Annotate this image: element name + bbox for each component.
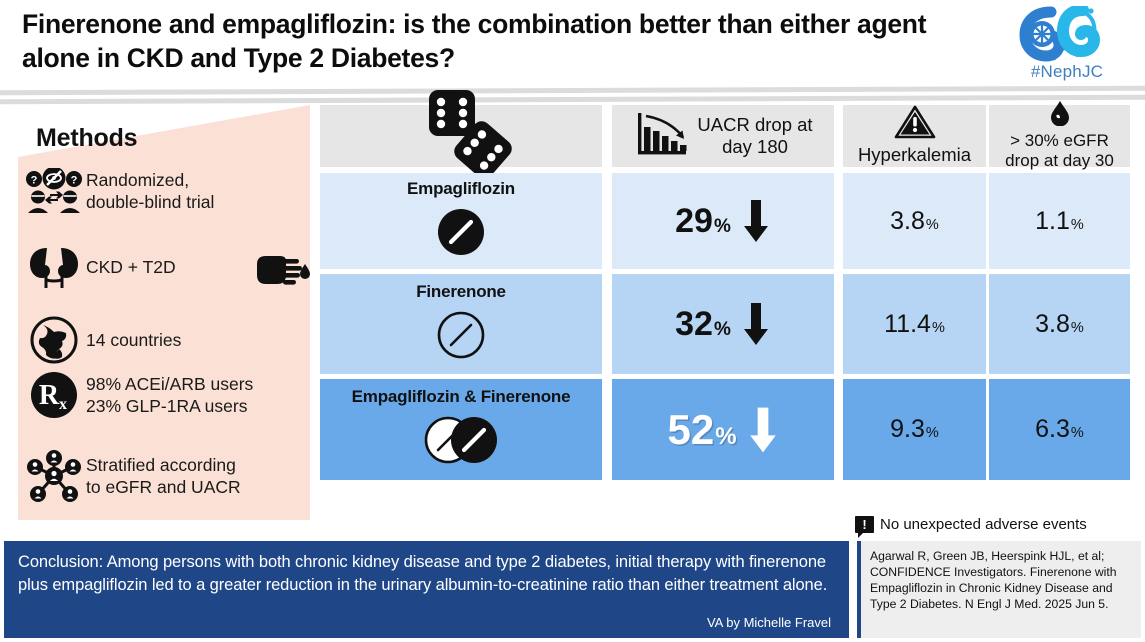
svg-text:?: ? xyxy=(31,175,38,187)
pill-pair-icon xyxy=(419,413,503,472)
arm-cell-empagliflozin: Empagliflozin xyxy=(320,173,602,269)
value-cell-egfr-empagliflozin: 1.1 % xyxy=(989,173,1130,269)
methods-item-1-text: CKD + T2D xyxy=(86,256,176,278)
egfr-value-finerenone: 3.8 % xyxy=(1035,310,1084,339)
header-cell-hyperkalemia: Hyperkalemia xyxy=(843,105,986,167)
arm-cell-combination: Empagliflozin & Finerenone xyxy=(320,379,602,480)
citation-block: Agarwal R, Green JB, Heerspink HJL, et a… xyxy=(857,541,1141,638)
page-title: Finerenone and empagliflozin: is the com… xyxy=(22,8,972,76)
value-cell-hyperkalemia-empagliflozin: 3.8 % xyxy=(843,173,986,269)
svg-text:x: x xyxy=(59,396,67,413)
pill-outline-icon xyxy=(435,309,487,366)
adverse-events-note: ! No unexpected adverse events xyxy=(855,516,1145,533)
uacr-percent-empagliflozin: % xyxy=(714,216,731,238)
methods-item-4-line2: to eGFR and UACR xyxy=(86,476,241,498)
value-cell-hyperkalemia-combination: 9.3 % xyxy=(843,379,986,480)
exclamation-bubble-icon: ! xyxy=(855,516,874,533)
uacr-number-empagliflozin: 29 xyxy=(675,202,713,241)
methods-item-0-line2: double-blind trial xyxy=(86,191,214,213)
nephjc-logo: #NephJC xyxy=(1007,6,1127,82)
blood-drop-icon xyxy=(1048,100,1072,131)
rx-icon: R x xyxy=(22,370,86,420)
header-uacr-line1: UACR drop at xyxy=(697,114,812,136)
conclusion-text: Conclusion: Among persons with both chro… xyxy=(18,551,835,598)
uacr-value-finerenone: 32 % xyxy=(675,305,731,344)
network-people-icon xyxy=(22,450,86,502)
methods-item-2-text: 14 countries xyxy=(86,329,181,351)
arm-label-combination: Empagliflozin & Finerenone xyxy=(352,387,571,407)
methods-item-4-line1: Stratified according xyxy=(86,454,241,476)
header-cell-arm xyxy=(320,105,602,167)
svg-text:R: R xyxy=(39,380,60,411)
adverse-events-text: No unexpected adverse events xyxy=(880,516,1087,533)
svg-text:?: ? xyxy=(71,175,78,187)
header-uacr-line2: day 180 xyxy=(697,136,812,158)
uacr-value-combination: 52 % xyxy=(667,406,736,454)
uacr-percent-combination: % xyxy=(715,423,736,451)
egfr-number-empagliflozin: 1.1 xyxy=(1035,207,1070,236)
value-cell-egfr-finerenone: 3.8 % xyxy=(989,274,1130,374)
methods-item-3-line1: 98% ACEi/ARB users xyxy=(86,373,253,395)
globe-icon xyxy=(22,315,86,365)
hyperkalemia-number-empagliflozin: 3.8 xyxy=(890,207,925,236)
declining-bar-chart-icon xyxy=(633,109,691,164)
egfr-percent-empagliflozin: % xyxy=(1071,217,1084,233)
methods-item-countries: 14 countries xyxy=(22,315,302,365)
egfr-value-combination: 6.3 % xyxy=(1035,415,1084,444)
hyperkalemia-value-empagliflozin: 3.8 % xyxy=(890,207,939,236)
down-arrow-icon xyxy=(747,405,779,455)
methods-item-3-text: 98% ACEi/ARB users 23% GLP-1RA users xyxy=(86,373,253,417)
header-egfr-line2: drop at day 30 xyxy=(1005,151,1114,171)
down-arrow-icon xyxy=(741,301,771,347)
infographic-page: Finerenone and empagliflozin: is the com… xyxy=(0,0,1145,642)
value-cell-uacr-empagliflozin: 29 % xyxy=(612,173,834,269)
hyperkalemia-number-finerenone: 11.4 xyxy=(884,310,931,339)
double-blind-icon: ? ? xyxy=(22,168,86,214)
value-cell-uacr-combination: 52 % xyxy=(612,379,834,480)
header-cell-egfr: > 30% eGFR drop at day 30 xyxy=(989,105,1130,167)
egfr-value-empagliflozin: 1.1 % xyxy=(1035,207,1084,236)
uacr-number-finerenone: 32 xyxy=(675,305,713,344)
methods-item-rx: R x 98% ACEi/ARB users 23% GLP-1RA users xyxy=(22,370,302,420)
header-hyperkalemia-label: Hyperkalemia xyxy=(858,144,971,166)
methods-heading: Methods xyxy=(36,124,137,153)
header-divider-1 xyxy=(0,86,1145,95)
arm-cell-finerenone: Finerenone xyxy=(320,274,602,374)
methods-item-4-text: Stratified according to eGFR and UACR xyxy=(86,454,241,498)
uacr-percent-finerenone: % xyxy=(714,319,731,341)
hyperkalemia-number-combination: 9.3 xyxy=(890,415,925,444)
methods-item-0-text: Randomized, double-blind trial xyxy=(86,169,214,213)
logo-hashtag: #NephJC xyxy=(1007,62,1127,82)
egfr-number-combination: 6.3 xyxy=(1035,415,1070,444)
methods-item-3-line2: 23% GLP-1RA users xyxy=(86,395,253,417)
warning-triangle-icon xyxy=(894,105,936,144)
arm-label-finerenone: Finerenone xyxy=(416,282,506,302)
header-divider-2 xyxy=(0,95,1145,104)
nephjc-kidney-logo xyxy=(1007,6,1127,64)
header-egfr-label: > 30% eGFR drop at day 30 xyxy=(1005,131,1114,171)
hyperkalemia-value-combination: 9.3 % xyxy=(890,415,939,444)
hyperkalemia-percent-finerenone: % xyxy=(932,320,945,336)
hyperkalemia-percent-empagliflozin: % xyxy=(926,217,939,233)
down-arrow-icon xyxy=(741,198,771,244)
methods-item-randomized: ? ? xyxy=(22,168,302,214)
hand-blood-drop-icon xyxy=(255,250,311,299)
results-grid: UACR drop at day 180 Hyperkalemia xyxy=(320,105,1130,520)
header-cell-uacr: UACR drop at day 180 xyxy=(612,105,834,167)
uacr-number-combination: 52 xyxy=(667,406,714,454)
hyperkalemia-value-finerenone: 11.4 % xyxy=(884,310,945,339)
header-egfr-line1: > 30% eGFR xyxy=(1005,131,1114,151)
header: Finerenone and empagliflozin: is the com… xyxy=(0,0,1145,86)
pill-filled-icon xyxy=(435,206,487,263)
header-uacr-label: UACR drop at day 180 xyxy=(697,114,812,158)
methods-item-0-line1: Randomized, xyxy=(86,169,214,191)
value-cell-egfr-combination: 6.3 % xyxy=(989,379,1130,480)
hyperkalemia-percent-combination: % xyxy=(926,425,939,441)
egfr-percent-finerenone: % xyxy=(1071,320,1084,336)
uacr-value-empagliflozin: 29 % xyxy=(675,202,731,241)
visual-abstract-credit: VA by Michelle Fravel xyxy=(707,615,831,630)
value-cell-hyperkalemia-finerenone: 11.4 % xyxy=(843,274,986,374)
egfr-number-finerenone: 3.8 xyxy=(1035,310,1070,339)
conclusion-bar: Conclusion: Among persons with both chro… xyxy=(4,541,849,638)
egfr-percent-combination: % xyxy=(1071,425,1084,441)
kidneys-icon xyxy=(22,244,86,290)
value-cell-uacr-finerenone: 32 % xyxy=(612,274,834,374)
arm-label-empagliflozin: Empagliflozin xyxy=(407,179,515,199)
methods-item-stratified: Stratified according to eGFR and UACR xyxy=(22,450,307,502)
